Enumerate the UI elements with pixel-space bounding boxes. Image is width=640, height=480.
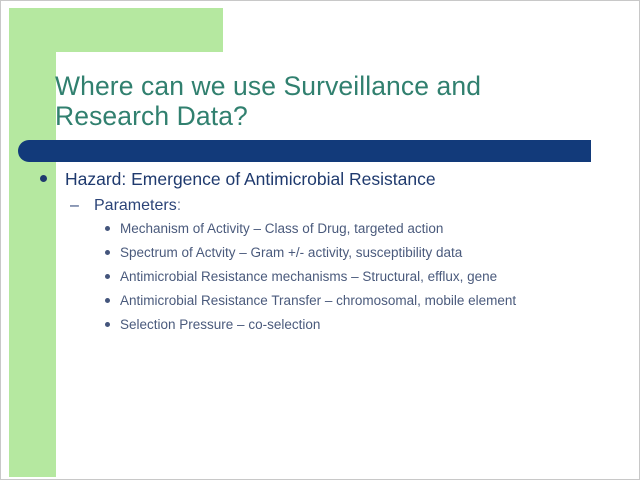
bullet-level2-colon: :: [177, 197, 181, 214]
bullet-level1: Hazard: Emergence of Antimicrobial Resis…: [1, 167, 640, 191]
bullet-disc-icon: [105, 226, 110, 231]
bullet-level3-item: Antimicrobial Resistance mechanisms – St…: [1, 267, 640, 287]
title-underline-bar: [18, 140, 591, 162]
bullet-dash-icon: –: [70, 194, 79, 217]
bullet-level3-item: Selection Pressure – co-selection: [1, 315, 640, 335]
bullet-disc-icon: [105, 274, 110, 279]
bullet-level3-label: Mechanism of Activity – Class of Drug, t…: [120, 221, 443, 236]
bullet-level3-item: Spectrum of Actvity – Gram +/- activity,…: [1, 243, 640, 263]
bullet-disc-icon: [105, 322, 110, 327]
slide-title: Where can we use Surveillance and Resear…: [55, 71, 595, 131]
bullet-level3-label: Antimicrobial Resistance mechanisms – St…: [120, 269, 497, 284]
bullet-level3-label: Antimicrobial Resistance Transfer – chro…: [120, 293, 516, 308]
slide: Where can we use Surveillance and Resear…: [0, 0, 640, 480]
bullet-disc-icon: [105, 298, 110, 303]
bullet-disc-icon: [40, 175, 47, 182]
bullet-level3-label: Spectrum of Actvity – Gram +/- activity,…: [120, 245, 462, 260]
slide-body: Hazard: Emergence of Antimicrobial Resis…: [1, 167, 640, 339]
bullet-level2: – Parameters:: [1, 194, 640, 217]
bullet-disc-icon: [105, 250, 110, 255]
bullet-level3-item: Mechanism of Activity – Class of Drug, t…: [1, 219, 640, 239]
bullet-level3-label: Selection Pressure – co-selection: [120, 317, 320, 332]
bullet-level3-item: Antimicrobial Resistance Transfer – chro…: [1, 291, 640, 311]
bullet-level2-label: Parameters: [94, 197, 177, 214]
bullet-level1-label: Hazard: Emergence of Antimicrobial Resis…: [65, 169, 436, 189]
